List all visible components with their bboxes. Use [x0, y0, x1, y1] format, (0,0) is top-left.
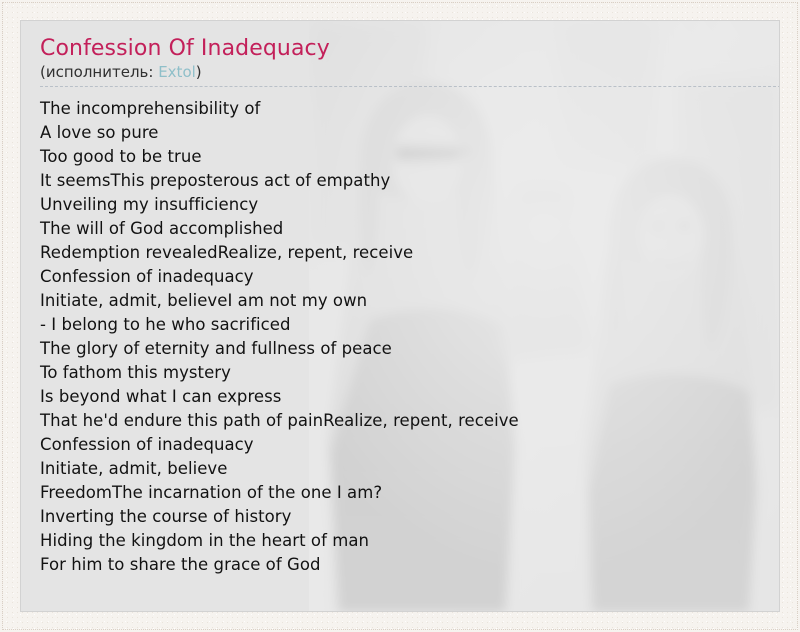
performer-label: (исполнитель:	[40, 63, 158, 81]
lyric-line: The glory of eternity and fullness of pe…	[40, 337, 763, 361]
title-divider	[40, 86, 780, 87]
lyric-line: Initiate, admit, believeI am not my own	[40, 289, 763, 313]
performer-link[interactable]: Extol	[158, 63, 196, 81]
lyrics-card: Confession Of Inadequacy (исполнитель: E…	[20, 20, 780, 612]
lyric-line: Inverting the course of history	[40, 505, 763, 529]
lyric-line: That he'd endure this path of painRealiz…	[40, 409, 763, 433]
lyric-line: - I belong to he who sacrificed	[40, 313, 763, 337]
lyrics-body: The incomprehensibility ofA love so pure…	[40, 97, 763, 577]
lyric-line: Confession of inadequacy	[40, 265, 763, 289]
lyric-line: Hiding the kingdom in the heart of man	[40, 529, 763, 553]
page-frame: Confession Of Inadequacy (исполнитель: E…	[0, 0, 800, 632]
lyric-line: The incomprehensibility of	[40, 97, 763, 121]
lyric-line: For him to share the grace of God	[40, 553, 763, 577]
lyric-line: A love so pure	[40, 121, 763, 145]
page-title: Confession Of Inadequacy	[40, 35, 763, 62]
lyric-line: To fathom this mystery	[40, 361, 763, 385]
lyric-line: It seemsThis preposterous act of empathy	[40, 169, 763, 193]
lyric-line: Confession of inadequacy	[40, 433, 763, 457]
lyric-line: Initiate, admit, believe	[40, 457, 763, 481]
lyric-line: FreedomThe incarnation of the one I am?	[40, 481, 763, 505]
lyric-line: Too good to be true	[40, 145, 763, 169]
performer-line: (исполнитель: Extol)	[40, 63, 763, 82]
lyric-line: The will of God accomplished	[40, 217, 763, 241]
performer-suffix: )	[196, 63, 202, 81]
lyric-line: Unveiling my insufficiency	[40, 193, 763, 217]
lyric-line: Is beyond what I can express	[40, 385, 763, 409]
lyric-line: Redemption revealedRealize, repent, rece…	[40, 241, 763, 265]
